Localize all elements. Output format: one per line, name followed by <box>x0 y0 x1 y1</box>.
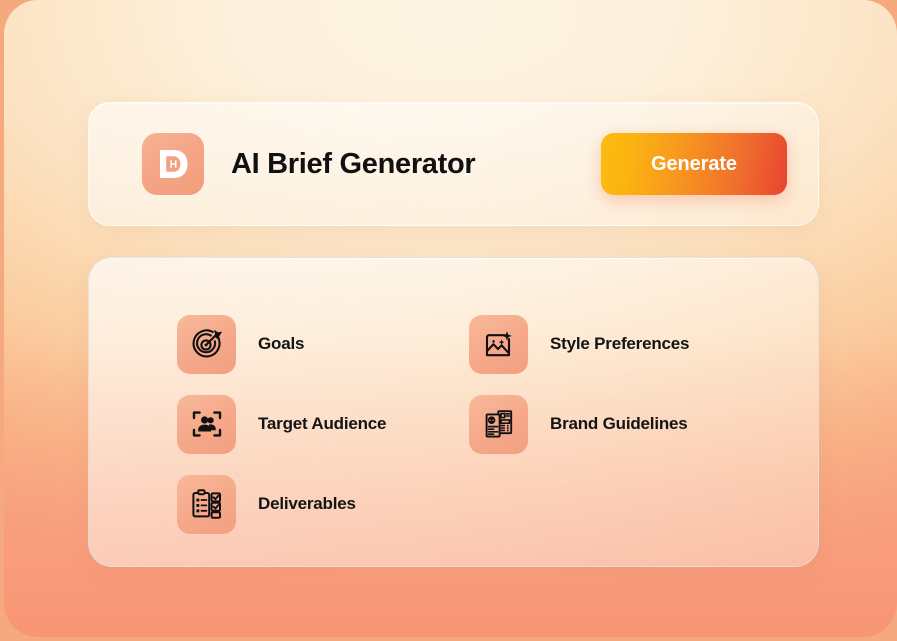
features-card: Goals Style Preferences <box>88 257 819 567</box>
feature-label: Brand Guidelines <box>550 414 688 434</box>
feature-label: Style Preferences <box>550 334 689 354</box>
app-root: AI Brief Generator Generate <box>0 0 897 641</box>
clipboard-checklist-icon <box>177 475 236 534</box>
feature-style-preferences[interactable]: Style Preferences <box>469 304 761 384</box>
page-title: AI Brief Generator <box>231 148 475 181</box>
target-goal-icon <box>177 315 236 374</box>
header-card: AI Brief Generator Generate <box>88 102 819 226</box>
feature-deliverables[interactable]: Deliverables <box>177 464 469 544</box>
generate-button[interactable]: Generate <box>601 133 787 195</box>
features-grid: Goals Style Preferences <box>177 304 757 544</box>
feature-brand-guidelines[interactable]: Brand Guidelines <box>469 384 761 464</box>
feature-label: Goals <box>258 334 304 354</box>
image-sparkle-icon <box>469 315 528 374</box>
feature-label: Target Audience <box>258 414 386 434</box>
brand-documents-icon <box>469 395 528 454</box>
feature-target-audience[interactable]: Target Audience <box>177 384 469 464</box>
dh-monogram-logo-icon <box>142 133 204 195</box>
audience-focus-icon <box>177 395 236 454</box>
page-surface: AI Brief Generator Generate <box>4 0 897 637</box>
feature-goals[interactable]: Goals <box>177 304 469 384</box>
feature-label: Deliverables <box>258 494 356 514</box>
header-content: AI Brief Generator Generate <box>89 103 818 225</box>
